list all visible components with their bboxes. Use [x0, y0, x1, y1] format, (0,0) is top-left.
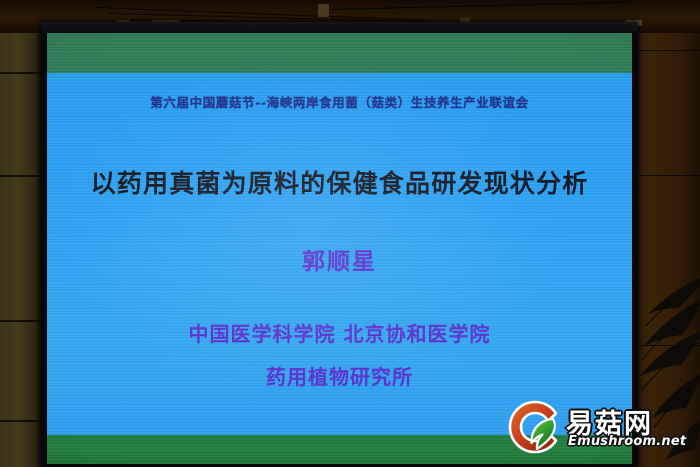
projector-screen: 第六届中国蘑菇节--海峡两岸食用菌（菇类）生技养生产业联谊会 以药用真菌为原料的…	[41, 22, 638, 467]
slide-author-name: 郭顺星	[47, 242, 632, 276]
slide-main-title: 以药用真菌为原料的保健食品研发现状分析	[47, 164, 632, 200]
slide-band-bottom	[47, 435, 632, 464]
slide-affiliation-primary: 中国医学科学院 北京协和医学院	[47, 318, 632, 347]
left-wall-panels	[0, 0, 42, 467]
photo-scene: 第六届中国蘑菇节--海峡两岸食用菌（菇类）生技养生产业联谊会 以药用真菌为原料的…	[0, 0, 700, 467]
slide-surface: 第六届中国蘑菇节--海峡两岸食用菌（菇类）生技养生产业联谊会 以药用真菌为原料的…	[47, 33, 632, 464]
slide-band-top	[47, 33, 632, 73]
screen-top-bar	[41, 22, 638, 33]
slide-affiliation-secondary: 药用植物研究所	[47, 361, 632, 390]
slide-conference-header: 第六届中国蘑菇节--海峡两岸食用菌（菇类）生技养生产业联谊会	[47, 92, 632, 111]
right-wall-panels	[628, 0, 700, 467]
